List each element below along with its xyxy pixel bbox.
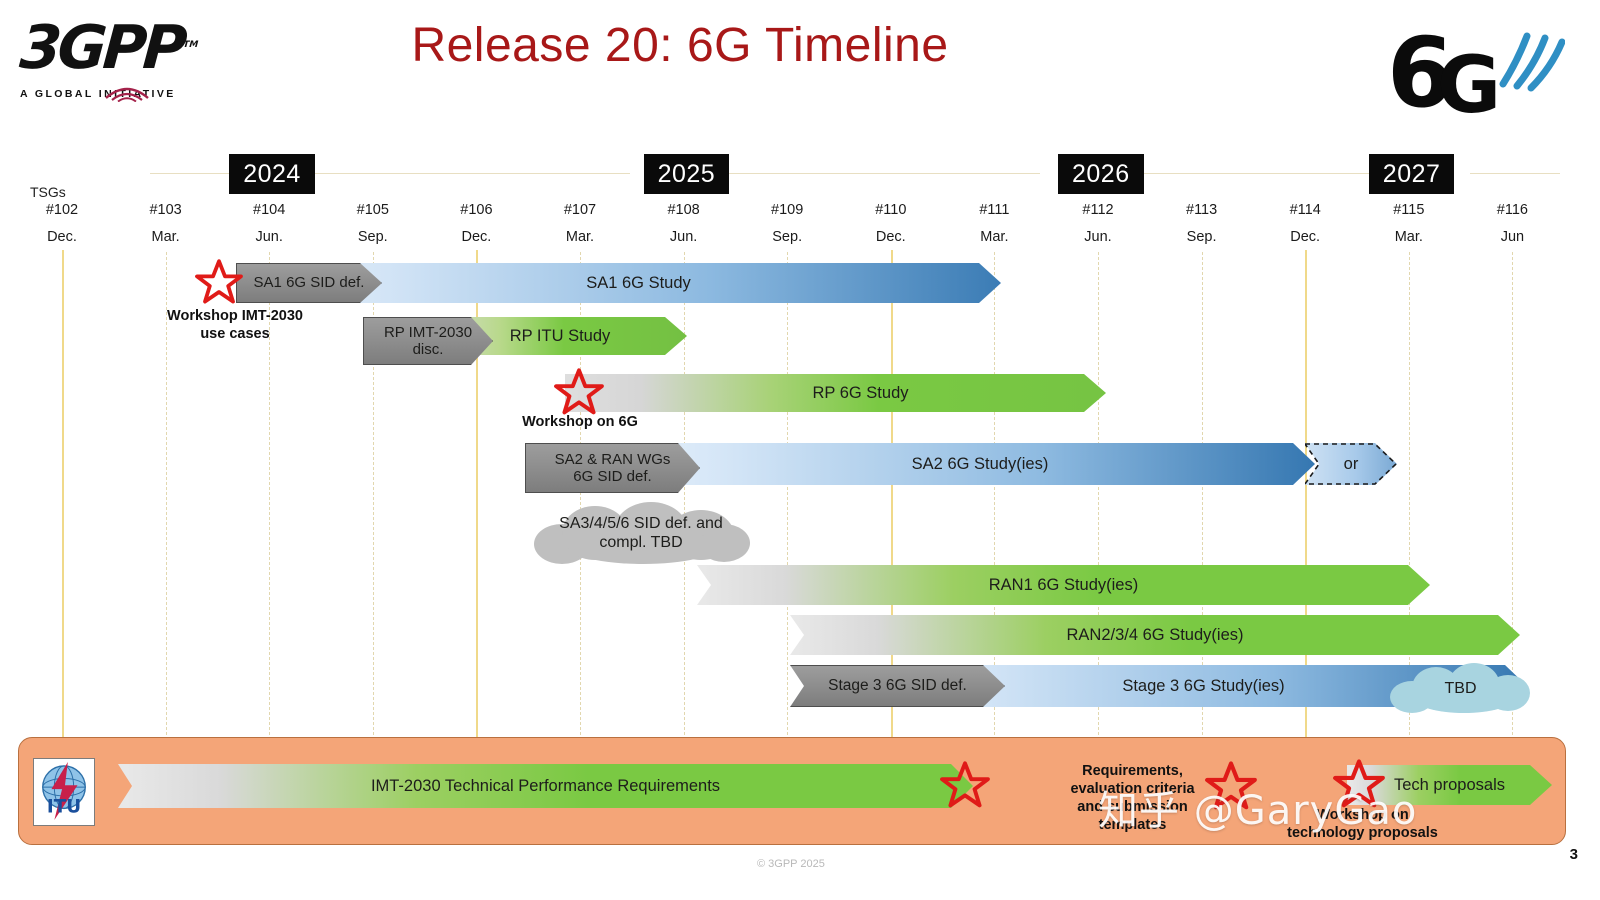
annotation-requirements: Requirements, evaluation criteria and su… [1050,762,1215,835]
3gpp-wordmark: 3GPPTM [18,18,192,78]
tick-month: Jun. [639,229,729,245]
bar-label: SA2 & RAN WGs 6G SID def. [549,451,677,486]
timeline-rule [1120,173,1390,174]
tick-meeting-number: #110 [846,202,936,218]
tick-month: Dec. [431,229,521,245]
tick-month: Mar. [949,229,1039,245]
3gpp-swoosh-icon [100,76,154,102]
tick-meeting-number: #107 [535,202,625,218]
tick-meeting-number: #108 [639,202,729,218]
tick-meeting-number: #113 [1157,202,1247,218]
copyright-text: © 3GPP 2025 [757,858,825,870]
itu-logo: ITU [33,758,95,826]
tick-month: Mar. [535,229,625,245]
bar-label: RP 6G Study [807,384,915,403]
bar-ran234-study[interactable]: RAN2/3/4 6G Study(ies) [790,615,1520,655]
annotation-workshop-imt2030: Workshop IMT-2030 use cases [150,307,320,343]
tick-month: Jun. [1053,229,1143,245]
bar-label: SA1 6G Study [580,274,697,293]
6g-logo: 6 G [1385,14,1565,124]
tick-month: Mar. [121,229,211,245]
bar-label: or [1344,455,1359,474]
tick-meeting-number: #114 [1260,202,1350,218]
annotation-workshop-tech: Workshop on technology proposals [1265,806,1460,842]
cloud-label: SA3/4/5/6 SID def. and compl. TBD [528,502,754,564]
svg-text:G: G [1437,41,1501,124]
tick-month: Sep. [742,229,832,245]
tick-meeting-number: #105 [328,202,418,218]
bar-label: Stage 3 6G Study(ies) [1116,677,1290,696]
bar-label: RAN1 6G Study(ies) [983,576,1144,595]
tick-meeting-number: #111 [949,202,1039,218]
year-box: 2024 [229,154,315,194]
cloud-sa3456-tbd: SA3/4/5/6 SID def. and compl. TBD [528,502,754,564]
bar-label: Tech proposals [1388,776,1511,795]
tick-month: Dec. [17,229,107,245]
tick-meeting-number: #104 [224,202,314,218]
bar-label: RP ITU Study [504,327,617,346]
bar-imt2030-tpr[interactable]: IMT-2030 Technical Performance Requireme… [118,764,973,808]
tick-month: Sep. [328,229,418,245]
timeline-rule [710,173,1040,174]
bar-rp-imt2030-disc[interactable]: RP IMT-2030 disc. [363,317,493,365]
year-box: 2027 [1369,154,1455,194]
tick-month: Jun [1467,229,1557,245]
slide-canvas: 3GPPTM A GLOBAL INITIATIVE Release 20: 6… [0,0,1600,900]
bar-sa2-ran-sid[interactable]: SA2 & RAN WGs 6G SID def. [525,443,700,493]
tick-meeting-number: #106 [431,202,521,218]
bar-tech-proposals[interactable]: Tech proposals [1347,765,1552,805]
gridline-quarter [787,252,788,745]
cloud-label: TBD [1388,663,1533,715]
3gpp-logo: 3GPPTM A GLOBAL INITIATIVE [20,18,190,128]
bar-label: SA1 6G SID def. [248,274,371,291]
tick-month: Sep. [1157,229,1247,245]
tick-month: Jun. [224,229,314,245]
year-box: 2026 [1058,154,1144,194]
page-title: Release 20: 6G Timeline [330,18,1030,73]
gridline-year-boundary [62,250,64,750]
tick-month: Dec. [846,229,936,245]
bar-sa1-sid[interactable]: SA1 6G SID def. [236,263,382,303]
page-number: 3 [1570,846,1578,863]
bar-label: IMT-2030 Technical Performance Requireme… [365,777,726,796]
bar-label: SA2 6G Study(ies) [906,455,1055,474]
tick-meeting-number: #115 [1364,202,1454,218]
bar-ran1-study[interactable]: RAN1 6G Study(ies) [697,565,1430,605]
bar-stage3-sid[interactable]: Stage 3 6G SID def. [790,665,1005,707]
cloud-stage3-tbd: TBD [1388,663,1533,715]
bar-label: Stage 3 6G SID def. [822,677,973,695]
annotation-workshop-6g: Workshop on 6G [500,413,660,431]
tsgs-label: TSGs [30,184,66,200]
tick-month: Mar. [1364,229,1454,245]
tick-month: Dec. [1260,229,1350,245]
timeline-rule [1470,173,1560,174]
svg-text:ITU: ITU [47,796,81,817]
bar-label: RAN2/3/4 6G Study(ies) [1061,626,1250,645]
tick-meeting-number: #103 [121,202,211,218]
itu-globe-icon: ITU [35,760,93,824]
timeline-rule [150,173,230,174]
tick-meeting-number: #109 [742,202,832,218]
tick-meeting-number: #116 [1467,202,1557,218]
trademark-icon: TM [183,40,199,50]
tick-meeting-number: #102 [17,202,107,218]
tick-meeting-number: #112 [1053,202,1143,218]
year-box: 2025 [644,154,730,194]
bar-label: RP IMT-2030 disc. [378,324,478,359]
bar-rp-6g-study[interactable]: RP 6G Study [565,374,1106,412]
timeline-rule [310,173,630,174]
bar-sa2-or-extension[interactable]: or [1305,443,1397,485]
